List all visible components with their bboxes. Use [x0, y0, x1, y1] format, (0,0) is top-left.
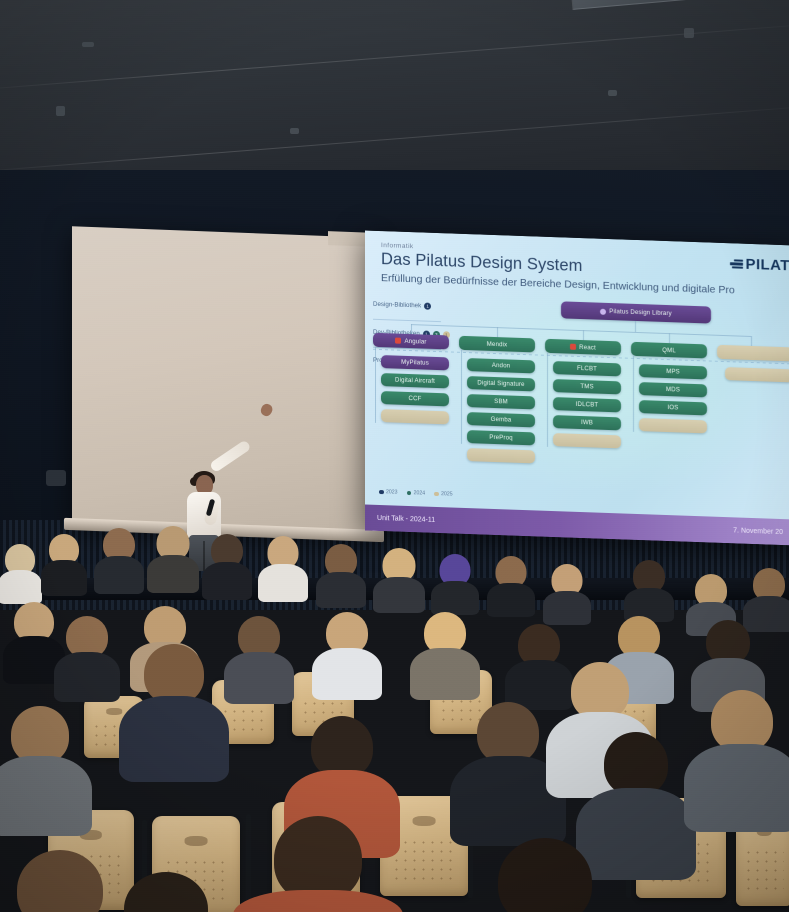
audience-person [134, 644, 214, 770]
library-icon [600, 308, 606, 314]
audience-person [98, 528, 140, 586]
node-digital-signature[interactable]: Digital Signature [467, 376, 535, 391]
node-mds[interactable]: MDS [639, 382, 707, 397]
count-dot-blue: 1 [424, 303, 431, 310]
node-label: React [579, 343, 596, 351]
legend-label: 2023 [386, 489, 398, 495]
node-label: QML [662, 346, 676, 353]
screen-mount-bracket [46, 470, 66, 486]
audience-person [628, 560, 670, 614]
audience [0, 520, 789, 912]
node-placeholder[interactable] [725, 367, 789, 382]
projected-slide: Informatik Das Pilatus Design System Erf… [365, 230, 789, 545]
audience-person [258, 816, 378, 912]
node-qml[interactable]: QML [631, 342, 707, 359]
node-angular[interactable]: Angular [373, 333, 449, 350]
audience-person [206, 534, 248, 592]
audience-person [320, 544, 362, 600]
audience-person [232, 616, 286, 694]
node-label: CCF [409, 395, 422, 402]
connector [635, 321, 636, 332]
audience-person [466, 702, 550, 834]
node-digital-aircraft[interactable]: Digital Aircraft [381, 373, 449, 388]
audience-person [8, 602, 60, 676]
audience-person [434, 554, 476, 608]
audience-person [320, 612, 374, 690]
node-pilatus-design-library[interactable]: Pilatus Design Library [561, 301, 711, 323]
row-label-design-bibliothek: Design-Bibliothek 1 [373, 301, 431, 310]
node-label: PreProq [489, 434, 512, 442]
pilatus-stripes-icon [730, 259, 743, 269]
connector [411, 324, 412, 334]
connector [751, 336, 752, 346]
node-mps[interactable]: MPS [639, 364, 707, 379]
node-react[interactable]: React [545, 339, 621, 356]
ceiling-sensor [608, 90, 617, 96]
node-label: FLCBT [577, 365, 597, 373]
slide-canvas: Informatik Das Pilatus Design System Erf… [365, 230, 789, 545]
row-divider [373, 319, 441, 322]
node-label: Digital Signature [477, 379, 524, 388]
node-label: MPS [666, 368, 680, 375]
connector-spine [633, 356, 634, 432]
audience-person [106, 872, 226, 912]
node-mypilatus[interactable]: MyPilatus [381, 355, 449, 370]
audience-person [418, 612, 472, 690]
node-placeholder[interactable] [467, 448, 535, 463]
node-ios[interactable]: IOS [639, 400, 707, 415]
node-andon[interactable]: Andon [467, 358, 535, 373]
react-icon [570, 344, 576, 350]
design-system-diagram: Design-Bibliothek 1 Dev-Bibliotheken 1 3… [365, 296, 789, 513]
audience-person [378, 548, 420, 604]
node-label: Pilatus Design Library [609, 308, 672, 317]
node-label: IDLCBT [576, 401, 599, 409]
connector [669, 333, 670, 343]
audience-person [60, 616, 114, 692]
node-label: IWB [581, 419, 593, 426]
node-tms[interactable]: TMS [553, 379, 621, 394]
legend-item-2023: 2023 [379, 489, 398, 496]
audience-person [44, 534, 84, 590]
node-label: MyPilatus [401, 359, 429, 367]
slide-subtitle: Erfüllung der Bedürfnisse der Bereiche D… [381, 272, 735, 296]
node-label: Andon [492, 362, 510, 370]
row-label-text: Design-Bibliothek [373, 301, 421, 310]
node-gemba[interactable]: Gemba [467, 412, 535, 427]
lecture-hall-photo: Informatik Das Pilatus Design System Erf… [0, 0, 789, 912]
legend-item-2025: 2025 [434, 491, 453, 498]
node-placeholder[interactable] [639, 418, 707, 433]
connector-spine [461, 350, 462, 444]
connector-spine [375, 347, 376, 423]
seat-frame [246, 814, 251, 912]
ceiling-sensor [290, 128, 299, 134]
node-placeholder-head[interactable] [717, 345, 789, 362]
audience-person [748, 568, 789, 624]
pilatus-logo: PILATU [730, 255, 789, 274]
angular-icon [395, 338, 401, 344]
audience-person [262, 536, 304, 594]
legend-label: 2024 [414, 490, 426, 496]
node-label: Mendix [487, 340, 508, 348]
node-ccf[interactable]: CCF [381, 391, 449, 406]
node-placeholder[interactable] [381, 409, 449, 424]
audience-person [480, 838, 610, 912]
audience-person [490, 556, 532, 610]
node-label: Digital Aircraft [395, 377, 435, 385]
node-label: MDS [666, 386, 680, 393]
node-mendix[interactable]: Mendix [459, 336, 535, 353]
ceiling-sensor [56, 106, 65, 116]
connector [497, 327, 498, 337]
node-iwb[interactable]: IWB [553, 415, 621, 430]
slide-eyebrow: Informatik [381, 242, 414, 250]
node-label: Angular [404, 337, 426, 345]
audience-person [152, 526, 194, 586]
node-label: Gemba [491, 416, 512, 424]
audience-person [0, 544, 40, 596]
audience-person [700, 690, 784, 818]
node-flcbt[interactable]: FLCBT [553, 361, 621, 376]
node-label: IOS [668, 404, 679, 411]
node-label: TMS [580, 383, 593, 390]
ceiling-panel [568, 0, 789, 10]
legend-label: 2025 [441, 491, 453, 497]
node-placeholder[interactable] [553, 433, 621, 448]
legend-item-2024: 2024 [407, 490, 426, 497]
node-sbm[interactable]: SBM [467, 394, 535, 409]
audience-person [700, 620, 756, 700]
audience-person [546, 564, 588, 616]
audience-person [512, 624, 566, 700]
node-idlcbt[interactable]: IDLCBT [553, 397, 621, 412]
pilatus-wordmark: PILATU [746, 256, 789, 275]
ceiling-sensor [82, 42, 94, 47]
ceiling-sensor [684, 28, 694, 38]
audience-person [0, 706, 80, 826]
node-preproq[interactable]: PreProq [467, 430, 535, 445]
node-label: SBM [494, 398, 508, 405]
slide-legend: 2023 2024 2025 [379, 489, 453, 498]
audience-person [0, 850, 120, 912]
connector-spine [547, 353, 548, 447]
connector [583, 330, 584, 340]
